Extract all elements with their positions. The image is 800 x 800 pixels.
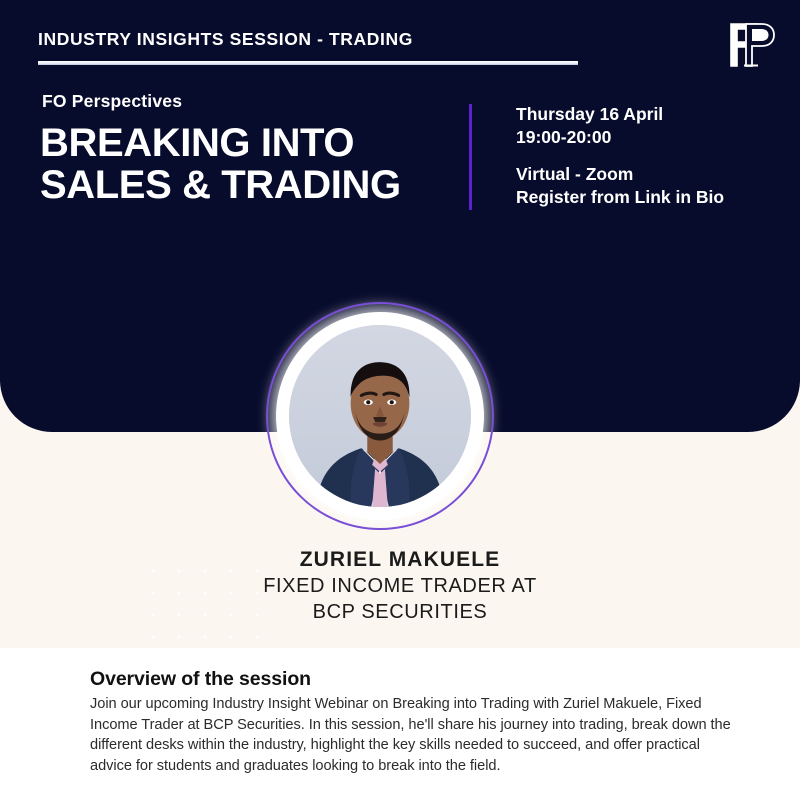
overview-section: Overview of the session Join our upcomin… — [90, 668, 740, 777]
event-format: Virtual - Zoom — [516, 163, 786, 186]
meta-accent-bar — [469, 104, 472, 210]
header-divider — [38, 61, 578, 65]
fp-monogram-logo — [722, 18, 778, 72]
speaker-role-line-1: FIXED INCOME TRADER AT — [0, 574, 800, 600]
title-line-2: SALES & TRADING — [40, 164, 470, 206]
event-registration: Register from Link in Bio — [516, 186, 786, 209]
speaker-caption: ZURIEL MAKUELE FIXED INCOME TRADER AT BC… — [0, 546, 800, 626]
session-kicker: INDUSTRY INSIGHTS SESSION - TRADING — [38, 29, 413, 50]
event-date: Thursday 16 April — [516, 103, 786, 126]
event-flyer: INDUSTRY INSIGHTS SESSION - TRADING FO P… — [0, 0, 800, 800]
speaker-headshot — [289, 325, 471, 507]
overview-title: Overview of the session — [90, 668, 740, 691]
speaker-role: FIXED INCOME TRADER AT BCP SECURITIES — [0, 574, 800, 625]
speaker-portrait-ring — [266, 302, 494, 530]
overview-body: Join our upcoming Industry Insight Webin… — [90, 694, 740, 777]
event-details: Thursday 16 April 19:00-20:00 Virtual - … — [516, 103, 786, 209]
series-eyebrow: FO Perspectives — [42, 91, 182, 112]
title-line-1: BREAKING INTO — [40, 121, 354, 165]
page-title: BREAKING INTO SALES & TRADING — [40, 122, 470, 207]
speaker-name: ZURIEL MAKUELE — [0, 546, 800, 574]
speaker-role-line-2: BCP SECURITIES — [0, 600, 800, 626]
event-time: 19:00-20:00 — [516, 126, 786, 149]
